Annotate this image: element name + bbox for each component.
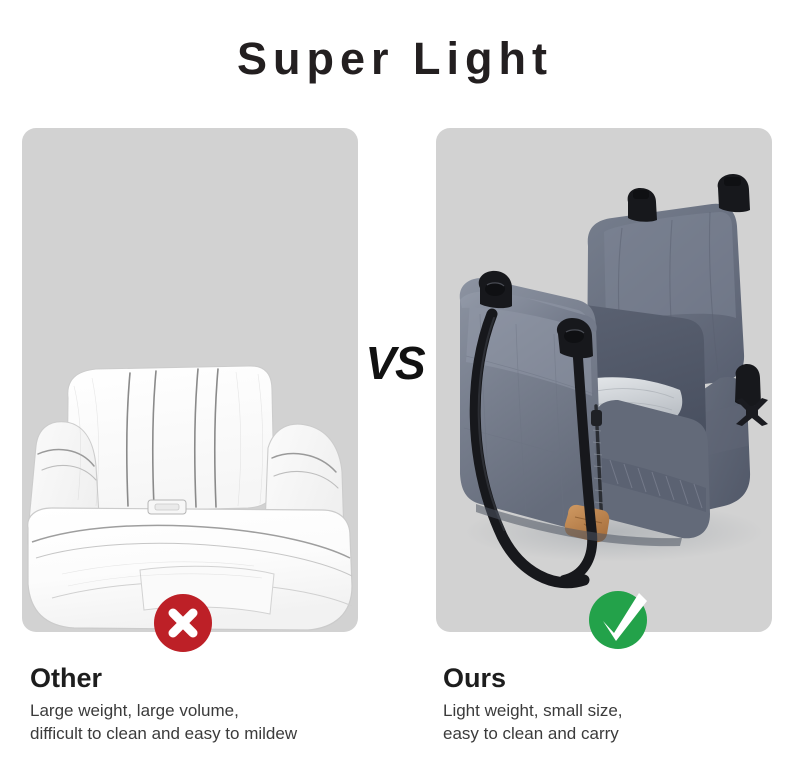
page-title: Super Light — [0, 34, 790, 84]
comparison-infographic: Super Light — [0, 0, 790, 773]
cross-badge — [154, 594, 212, 652]
product-name-other: Other — [30, 664, 297, 692]
product-image-other — [22, 128, 358, 632]
cross-icon — [154, 594, 212, 652]
product-description-other: Large weight, large volume, difficult to… — [30, 700, 297, 746]
check-badge — [589, 591, 647, 649]
product-description-ours: Light weight, small size, easy to clean … — [443, 700, 623, 746]
caption-other: Other Large weight, large volume, diffic… — [30, 664, 297, 746]
product-panel-other — [22, 128, 358, 632]
product-image-ours — [436, 128, 772, 632]
product-name-ours: Ours — [443, 664, 623, 692]
vs-label: VS — [358, 336, 432, 390]
check-icon — [589, 591, 647, 649]
product-panel-ours — [436, 128, 772, 632]
caption-ours: Ours Light weight, small size, easy to c… — [443, 664, 623, 746]
